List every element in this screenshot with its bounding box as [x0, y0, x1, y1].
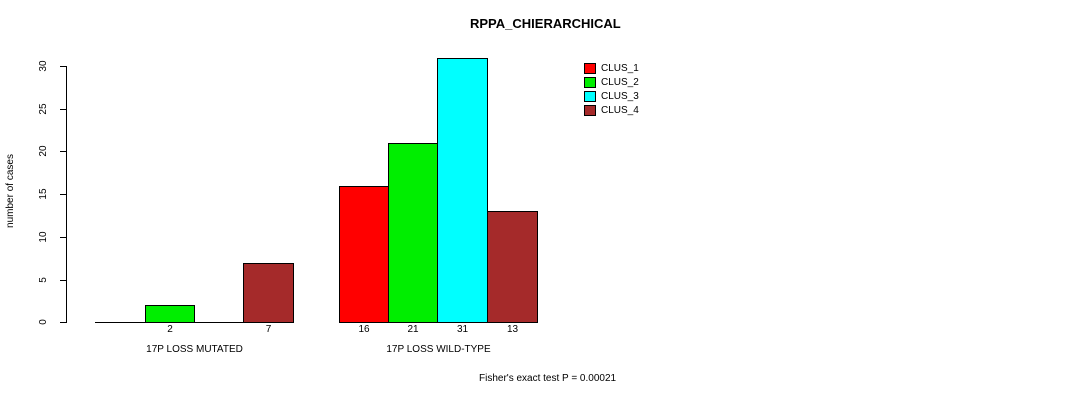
legend-label-clus2: CLUS_2 — [601, 77, 639, 88]
group-label-wildtype: 17P LOSS WILD-TYPE — [339, 344, 538, 355]
legend-swatch-clus2 — [584, 77, 596, 88]
y-tick-label-30: 30 — [39, 56, 49, 76]
y-tick-label-10: 10 — [39, 227, 49, 247]
group-label-mutated: 17P LOSS MUTATED — [95, 344, 294, 355]
bar-label-wildtype-clus2: 21 — [388, 325, 438, 335]
legend: CLUS_1 CLUS_2 CLUS_3 CLUS_4 — [584, 61, 639, 117]
chart-canvas: RPPA_CHIERARCHICAL 0 5 10 15 20 25 30 — [0, 0, 1090, 400]
bar-mutated-clus2[interactable] — [145, 305, 195, 323]
bar-mutated-clus4[interactable] — [243, 263, 294, 323]
y-tick-label-15: 15 — [39, 184, 49, 204]
legend-swatch-clus4 — [584, 105, 596, 116]
bar-label-wildtype-clus1: 16 — [339, 325, 389, 335]
legend-swatch-clus1 — [584, 63, 596, 74]
y-axis-line — [66, 66, 67, 323]
y-axis-title: number of cases — [6, 136, 16, 246]
y-tick-30 — [60, 66, 66, 67]
legend-item-clus4[interactable]: CLUS_4 — [584, 103, 639, 117]
y-tick-label-0: 0 — [39, 312, 49, 332]
legend-item-clus2[interactable]: CLUS_2 — [584, 75, 639, 89]
bar-wildtype-clus4[interactable] — [487, 211, 538, 323]
legend-swatch-clus3 — [584, 91, 596, 102]
y-tick-label-20: 20 — [39, 141, 49, 161]
bar-label-mutated-clus2: 2 — [145, 325, 195, 335]
y-tick-label-25: 25 — [39, 99, 49, 119]
y-tick-15 — [60, 194, 66, 195]
y-tick-0 — [60, 322, 66, 323]
bar-label-mutated-clus4: 7 — [243, 325, 294, 335]
bar-wildtype-clus2[interactable] — [388, 143, 438, 323]
legend-item-clus1[interactable]: CLUS_1 — [584, 61, 639, 75]
bar-label-wildtype-clus4: 13 — [487, 325, 538, 335]
y-tick-5 — [60, 280, 66, 281]
plot-area: 0 5 10 15 20 25 30 number of cases 2 7 — [0, 0, 700, 400]
bar-label-wildtype-clus3: 31 — [437, 325, 488, 335]
bar-wildtype-clus3[interactable] — [437, 58, 488, 323]
legend-label-clus3: CLUS_3 — [601, 91, 639, 102]
y-tick-25 — [60, 109, 66, 110]
legend-item-clus3[interactable]: CLUS_3 — [584, 89, 639, 103]
legend-label-clus4: CLUS_4 — [601, 105, 639, 116]
legend-label-clus1: CLUS_1 — [601, 63, 639, 74]
y-tick-10 — [60, 237, 66, 238]
y-tick-20 — [60, 151, 66, 152]
bar-wildtype-clus1[interactable] — [339, 186, 389, 323]
y-tick-label-5: 5 — [39, 270, 49, 290]
fisher-test-annotation: Fisher's exact test P = 0.00021 — [479, 373, 616, 384]
